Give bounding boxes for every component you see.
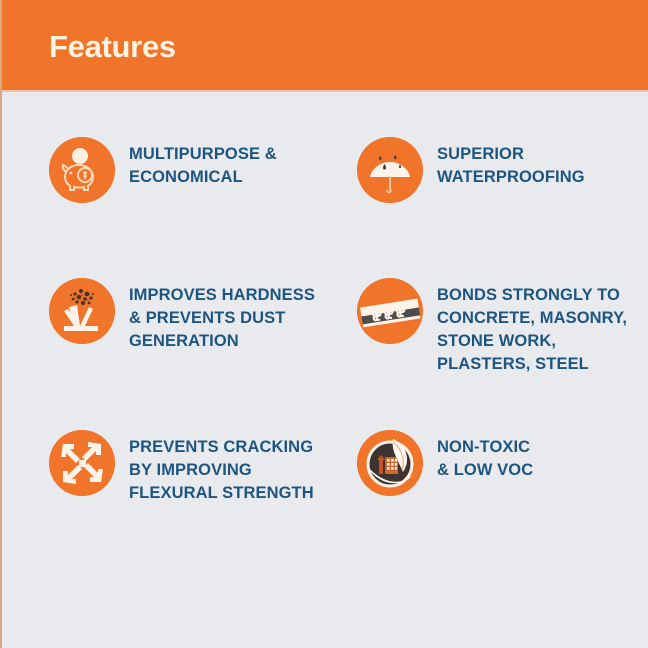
feature-item-cracking: PREVENTS CRACKING BY IMPROVING FLEXURAL … [49, 430, 329, 505]
feature-item-nontoxic: NON-TOXIC & LOW VOC [357, 430, 637, 496]
feature-label: NON-TOXIC & LOW VOC [437, 430, 637, 482]
feature-label: PREVENTS CRACKING BY IMPROVING FLEXURAL … [129, 430, 329, 505]
feature-label: SUPERIOR WATERPROOFING [437, 137, 648, 189]
feature-label: BONDS STRONGLY TO CONCRETE, MASONRY, STO… [437, 278, 648, 376]
converging-arrows-icon [49, 430, 115, 496]
feature-label: MULTIPURPOSE & ECONOMICAL [129, 137, 329, 189]
page-title: Features [49, 28, 176, 66]
features-grid: MULTIPURPOSE & ECONOMICAL SUPERIOR W [2, 92, 648, 648]
umbrella-rain-icon [357, 137, 423, 203]
header-bar: Features [2, 0, 648, 92]
eco-leaf-building-icon [357, 430, 423, 496]
feature-item-multipurpose: MULTIPURPOSE & ECONOMICAL [49, 137, 329, 203]
feature-item-hardness: IMPROVES HARDNESS & PREVENTS DUST GENERA… [49, 278, 329, 353]
feature-item-bonds: BONDS STRONGLY TO CONCRETE, MASONRY, STO… [357, 278, 648, 376]
bonding-layers-icon [357, 278, 423, 344]
feature-item-waterproofing: SUPERIOR WATERPROOFING [357, 137, 648, 203]
trowel-dust-icon [49, 278, 115, 344]
piggy-bank-icon [49, 137, 115, 203]
feature-label: IMPROVES HARDNESS & PREVENTS DUST GENERA… [129, 278, 329, 353]
features-panel: Features MULTIPURPOSE & ECONOMICAL [0, 0, 648, 648]
